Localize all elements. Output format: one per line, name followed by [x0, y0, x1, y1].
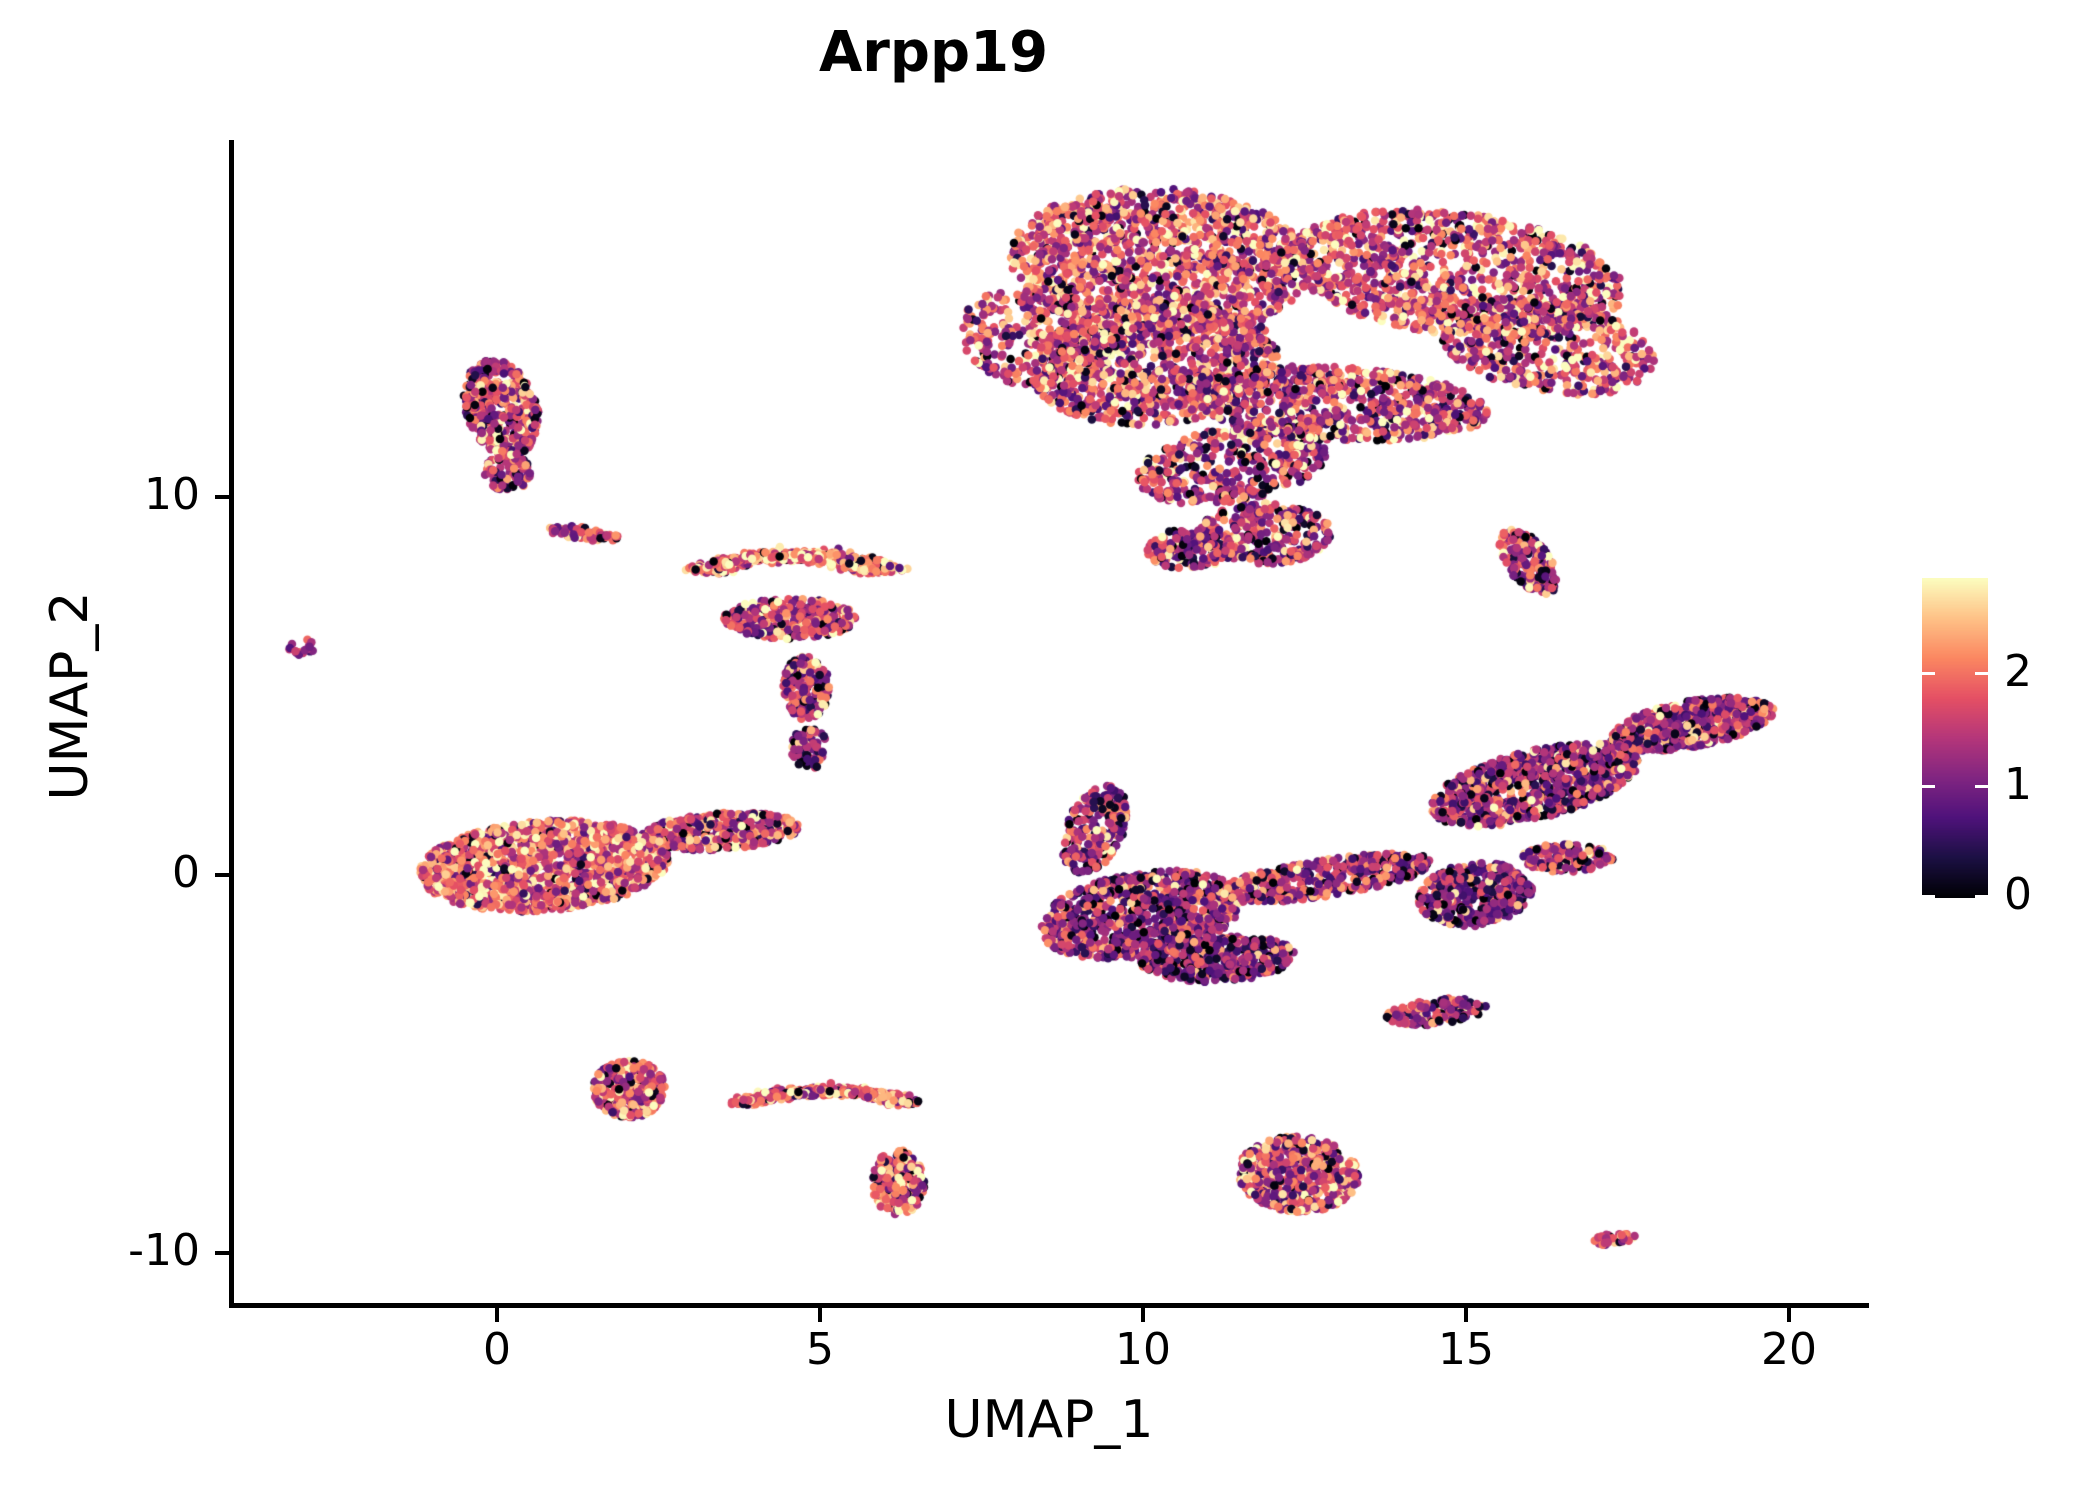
y-tick-label-10: 10: [144, 469, 200, 520]
x-tick-label-0: 0: [417, 1324, 577, 1375]
x-tick-label-10: 10: [1063, 1324, 1223, 1375]
y-tick-label-0-holder: 0: [0, 847, 200, 903]
y-tick-label-neg10: -10: [128, 1225, 200, 1276]
colorbar-tick-1-left: [1922, 785, 1935, 788]
y-tick-label-neg10-holder: -10: [0, 1225, 200, 1281]
scatter-plot-canvas: [229, 140, 1869, 1308]
x-tick-label-20-holder: 20: [1709, 1324, 1869, 1384]
colorbar-label-0: 0: [2004, 869, 2032, 920]
x-tick-label-15-holder: 15: [1386, 1324, 1546, 1384]
colorbar-label-2: 2: [2004, 646, 2032, 697]
colorbar-tick-1-right: [1975, 785, 1988, 788]
y-tick-label-0: 0: [172, 847, 200, 898]
x-tick-label-5-holder: 5: [740, 1324, 900, 1384]
y-tick-label-10-holder: 10: [0, 469, 200, 525]
x-tick-label-5: 5: [740, 1324, 900, 1375]
colorbar-tick-0-right: [1975, 895, 1988, 898]
page-title: Arpp19: [0, 20, 1867, 85]
y-tick-mark-0: [215, 873, 229, 877]
y-axis-label: UMAP_2: [40, 346, 100, 1046]
colorbar-gradient: [1922, 578, 1988, 898]
x-tick-mark-0: [495, 1308, 499, 1322]
colorbar-label-1: 1: [2004, 759, 2032, 810]
x-tick-label-20: 20: [1709, 1324, 1869, 1375]
x-tick-label-10-holder: 10: [1063, 1324, 1223, 1384]
x-tick-label-0-holder: 0: [417, 1324, 577, 1384]
x-tick-mark-5: [818, 1308, 822, 1322]
x-axis-label: UMAP_1: [229, 1390, 1869, 1450]
x-tick-label-15: 15: [1386, 1324, 1546, 1375]
umap-feature-plot-figure: Arpp19 10 0 -10 0 5 10 15 20 UMAP_1 UMAP…: [0, 0, 2100, 1500]
y-tick-mark-10: [215, 495, 229, 499]
x-tick-mark-10: [1141, 1308, 1145, 1322]
x-tick-mark-15: [1464, 1308, 1468, 1322]
colorbar-tick-0-left: [1922, 895, 1935, 898]
y-axis-spine: [229, 140, 234, 1308]
colorbar-tick-2-right: [1975, 672, 1988, 675]
colorbar: 2 1 0: [1922, 578, 1988, 898]
x-tick-mark-20: [1787, 1308, 1791, 1322]
y-tick-mark-neg10: [215, 1251, 229, 1255]
x-axis-spine: [229, 1303, 1869, 1308]
colorbar-tick-2-left: [1922, 672, 1935, 675]
